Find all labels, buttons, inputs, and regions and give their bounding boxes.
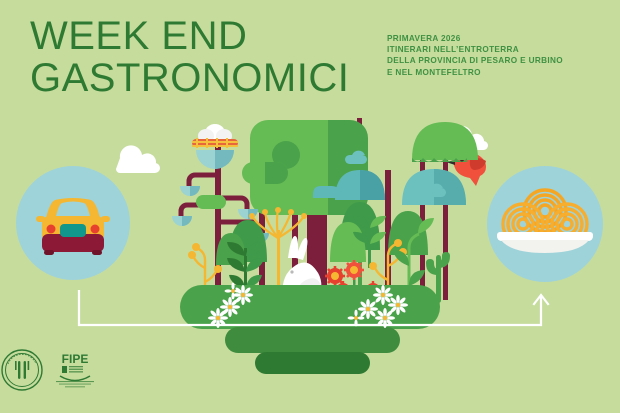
subtitle-line-3: DELLA PROVINCIA DI PESARO E URBINO: [387, 55, 563, 66]
poster-subtitle: PRIMAVERA 2026 ITINERARI NELL’ENTROTERRA…: [387, 33, 563, 78]
capsule-bush: [196, 195, 226, 209]
pasta-badge: [487, 166, 603, 282]
svg-text:FIPE: FIPE: [62, 352, 89, 366]
subtitle-line-1: PRIMAVERA 2026: [387, 33, 563, 44]
title-line-1: WEEK END: [30, 18, 349, 54]
teal-bush: [313, 186, 340, 198]
logo-fork-knife-seal[interactable]: [0, 348, 44, 392]
spaghetti-plate-icon: [487, 166, 603, 282]
subtitle-line-2: ITINERARI NELL’ENTROTERRA: [387, 44, 563, 55]
title-line-2: GASTRONOMICI: [30, 60, 349, 96]
capsule-bush: [242, 162, 288, 184]
car-badge: [16, 166, 130, 280]
teal-puff: [424, 188, 446, 197]
poster-title: WEEK END GASTRONOMICI: [30, 18, 349, 96]
subtitle-line-4: E NEL MONTEFELTRO: [387, 67, 563, 78]
teal-puff: [345, 155, 367, 164]
bird-nest-icon: [192, 124, 238, 148]
car-front-icon: [16, 166, 130, 280]
logo-fipe[interactable]: FIPE: [48, 350, 102, 392]
sponsor-logo-bar: CAMERA DI COMMERCIO DELLE MARCHE FIPE: [0, 348, 620, 398]
poster-canvas: WEEK END GASTRONOMICI PRIMAVERA 2026 ITI…: [0, 0, 620, 413]
